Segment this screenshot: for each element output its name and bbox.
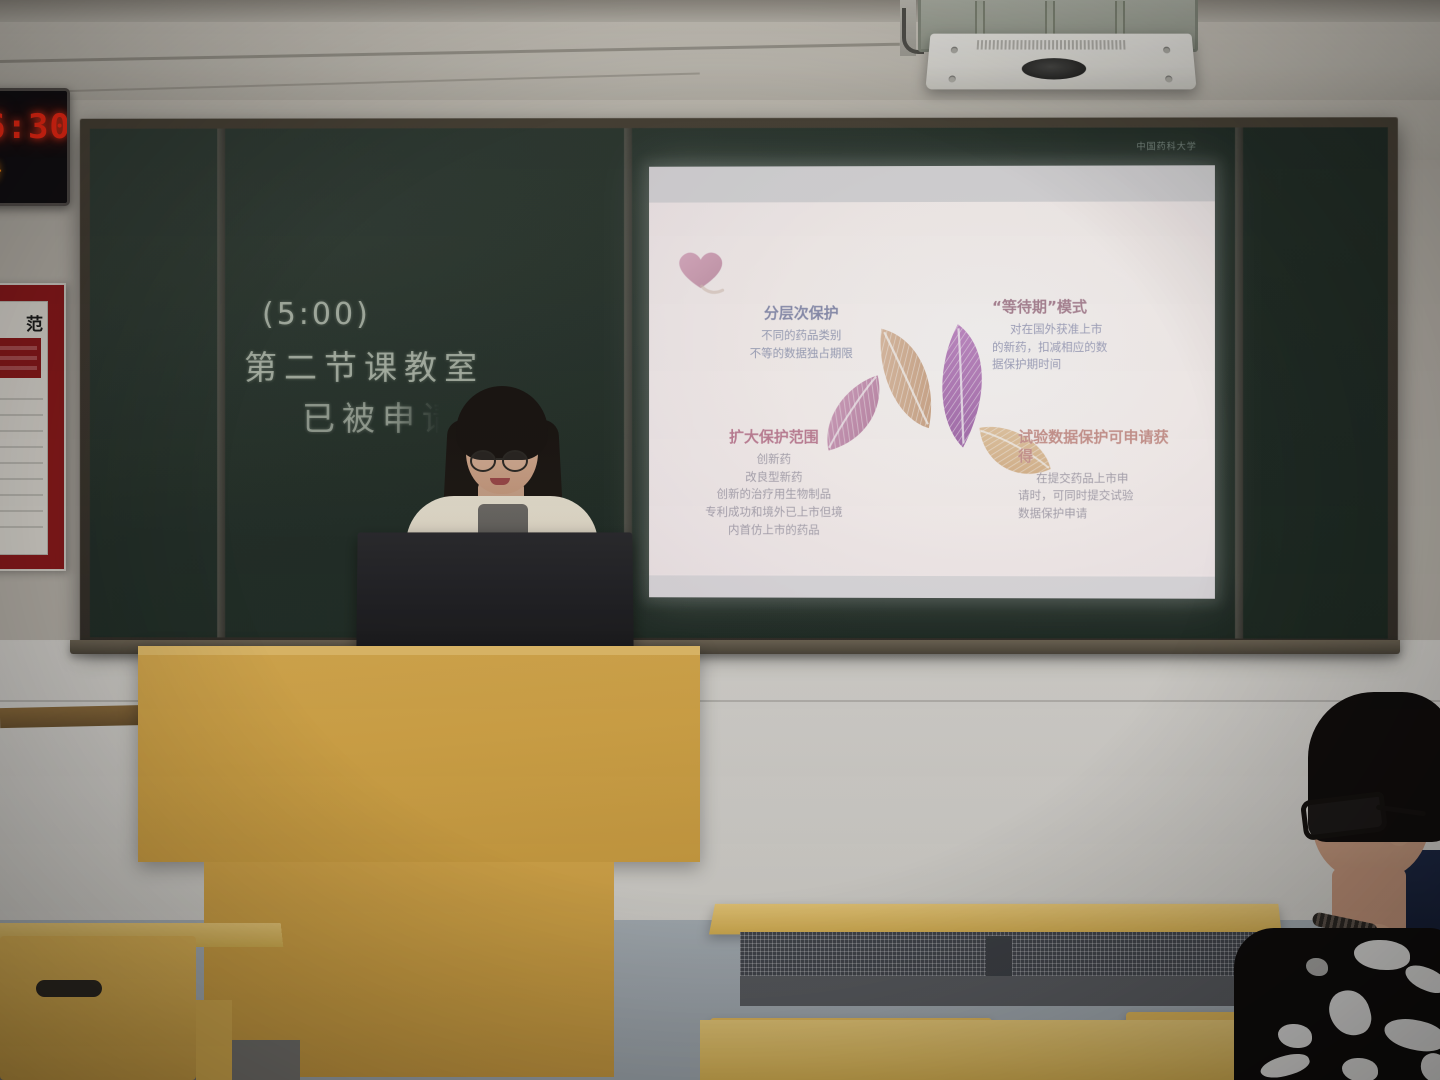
slide-bottom-band xyxy=(649,575,1215,598)
laptop-screen xyxy=(356,532,633,652)
poster-title: 范 xyxy=(0,310,43,335)
slide-body-line: 的新药，扣减相应的数 xyxy=(992,338,1158,356)
desk-row-right xyxy=(709,904,1282,935)
chair-handle-slot xyxy=(36,980,102,997)
slide-body-line: 改良型新药 xyxy=(667,468,881,486)
slide-heading: “等待期”模式 xyxy=(992,298,1158,317)
slide-block-waiting-period: “等待期”模式 对在国外获准上市 的新药，扣减相应的数 据保护期时间 xyxy=(992,298,1158,374)
slide-block-expand-scope: 扩大保护范围 创新药 改良型新药 创新的治疗用生物制品 专利成功和境外已上市但境… xyxy=(667,428,881,540)
slide-body-line: 不同的药品类别 xyxy=(737,327,867,345)
clock-time-display: 6:30 xyxy=(0,107,70,147)
chalk-line-time: (5:00) xyxy=(262,297,371,332)
lectern-panel xyxy=(138,646,700,862)
slide-body-line: 请时，可同时提交试验 xyxy=(1018,487,1179,505)
lectern-top-edge xyxy=(138,646,700,655)
slide-body-line: 内首仿上市的药品 xyxy=(667,522,881,540)
slide-body-line: 不等的数据独占期限 xyxy=(737,345,867,363)
slide-heading: 试验数据保护可申请获得 xyxy=(1018,428,1179,466)
ceiling-seam-secondary xyxy=(0,72,700,94)
slide-canvas: 分层次保护 不同的药品类别 不等的数据独占期限 “等待期”模式 对在国外获准上市… xyxy=(649,165,1215,599)
slide-body-line: 对在国外获准上市 xyxy=(992,321,1158,339)
projector-vent xyxy=(977,40,1126,49)
slide-body-line: 据保护期时间 xyxy=(992,356,1158,374)
presenter-glasses-right-lens xyxy=(502,450,528,472)
slide-body: 不同的药品类别 不等的数据独占期限 xyxy=(737,327,867,363)
slide-block-tiered-protection: 分层次保护 不同的药品类别 不等的数据独占期限 xyxy=(737,304,867,362)
projector-lens-icon xyxy=(1022,58,1087,79)
projected-slide: 中国药科大学 xyxy=(649,165,1215,599)
presenter-glasses-left-lens xyxy=(470,450,496,472)
presenter-glasses-bridge xyxy=(496,458,504,460)
desk-undershelf xyxy=(740,976,1280,1006)
student-jacket xyxy=(1234,928,1440,1080)
desk-row-front xyxy=(700,1020,1300,1080)
slide-heading: 分层次保护 xyxy=(737,304,867,323)
led-wall-clock: 6:30 号 xyxy=(0,88,70,206)
classroom-scene: 6:30 号 范 xyxy=(0,0,1440,1080)
slide-body: 在提交药品上市申 请时，可同时提交试验 数据保护申请 xyxy=(1018,470,1179,524)
slide-body-line: 创新药 xyxy=(667,451,881,469)
chair-back-left xyxy=(0,936,196,1080)
clock-sub-label: 号 xyxy=(0,157,43,184)
slide-body-line: 创新的治疗用生物制品 xyxy=(667,486,881,504)
slide-block-apply-protection: 试验数据保护可申请获得 在提交药品上市申 请时，可同时提交试验 数据保护申请 xyxy=(1018,428,1179,523)
heart-icon xyxy=(671,244,737,304)
slide-body: 对在国外获准上市 的新药，扣减相应的数 据保护期时间 xyxy=(992,321,1158,375)
slide-body-line: 在提交药品上市申 xyxy=(1018,470,1179,488)
slide-top-band xyxy=(649,165,1215,202)
poster-red-box xyxy=(0,338,41,378)
ceiling-projector xyxy=(925,34,1196,90)
slide-heading: 扩大保护范围 xyxy=(667,428,881,447)
ceiling-beam xyxy=(0,0,1440,22)
slide-body: 创新药 改良型新药 创新的治疗用生物制品 专利成功和境外已上市但境 内首仿上市的… xyxy=(667,451,881,540)
slide-body-line: 专利成功和境外已上市但境 xyxy=(667,504,881,522)
ceiling-seam xyxy=(0,43,900,63)
slide-faint-header: 中国药科大学 xyxy=(1136,139,1196,152)
chair-post-left xyxy=(196,1000,232,1080)
foreground-student xyxy=(1216,692,1440,1080)
slide-body-line: 数据保护申请 xyxy=(1018,505,1179,523)
poster-inner-panel: 范 xyxy=(0,301,48,555)
presenter-hair-top xyxy=(456,386,548,460)
wall-poster: 范 xyxy=(0,283,66,571)
